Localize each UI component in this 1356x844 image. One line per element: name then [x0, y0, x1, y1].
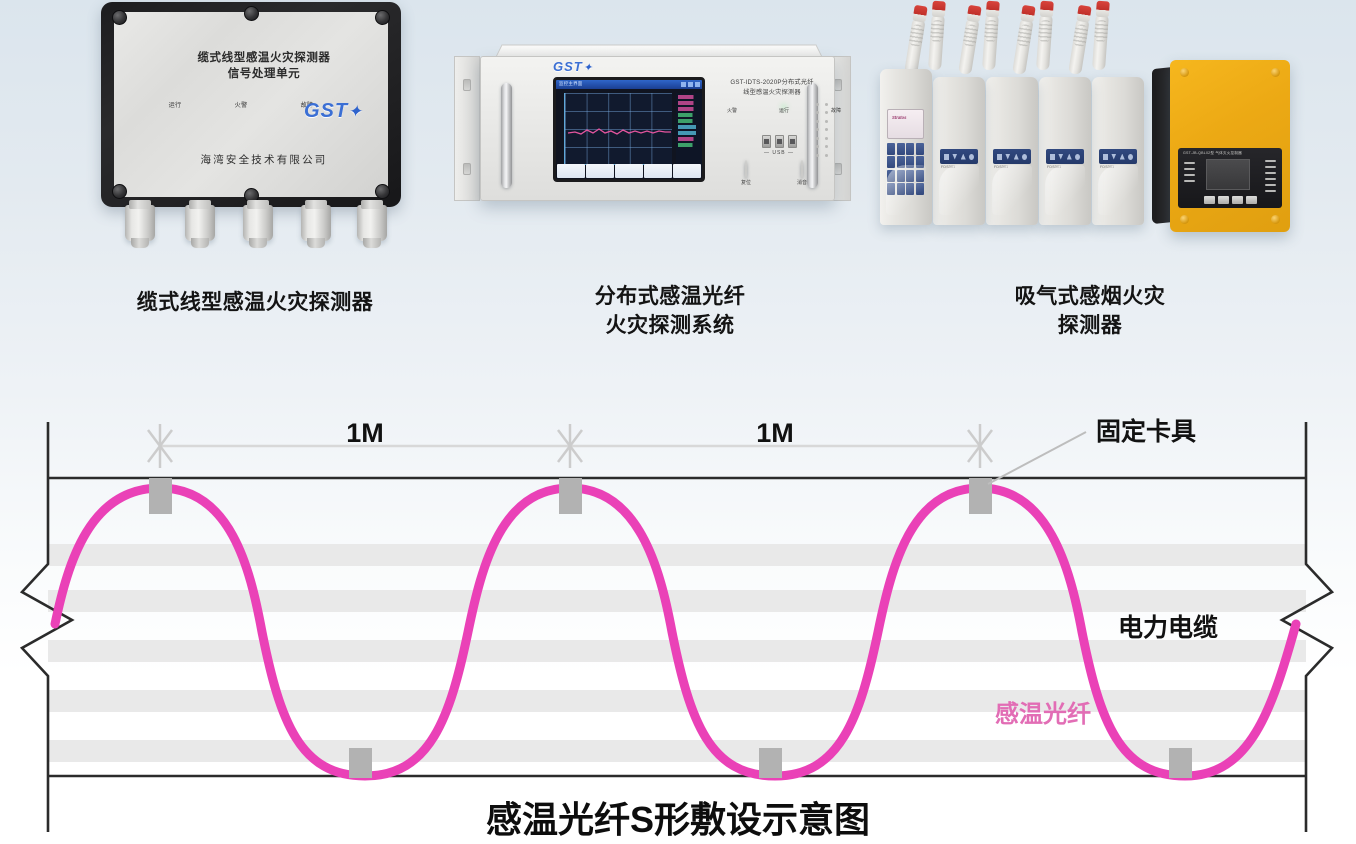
dts-model-line2: 线型感温火灾探测器	[711, 88, 833, 98]
dts-led-run-label: 运行	[771, 107, 797, 114]
caption-aspirating-detector: 吸气式感烟火灾 探测器	[930, 282, 1250, 340]
clamp-block	[149, 478, 172, 514]
clamp-leader-line	[988, 432, 1086, 484]
dts-knob-row: 复位 消音	[733, 161, 815, 186]
screw-icon	[1180, 68, 1189, 77]
gst-brand-logo: GST✦	[304, 100, 364, 123]
rack-slot-icon	[834, 79, 842, 91]
sampling-pipe	[928, 14, 945, 71]
aspirating-display[interactable]: Stratos	[887, 109, 924, 139]
detector-led-run-label: 运行	[158, 100, 192, 109]
detector-led-fire: 火警	[224, 100, 258, 109]
controller-panel-title: GST-JB-QBL02型 气体灭火控制器	[1183, 151, 1242, 156]
detector-led-group: 运行 火警 故障	[158, 100, 324, 109]
aspirating-unit: FDS301	[1092, 77, 1144, 225]
label-sensing-fiber: 感温光纤	[995, 700, 1091, 728]
detector-led-run: 运行	[158, 100, 192, 109]
flame-icon: ✦	[347, 102, 367, 122]
screw-icon	[1180, 215, 1189, 224]
gst-logo-text: GST	[553, 59, 583, 74]
dts-knob-reset[interactable]: 复位	[733, 161, 759, 186]
screw-icon	[244, 6, 259, 21]
detector-panel-title-line2: 信号处理单元	[114, 66, 414, 82]
caption-cable-detector: 缆式线型感温火灾探测器	[55, 288, 455, 317]
screen-tab[interactable]	[557, 164, 585, 178]
aspirating-keypad[interactable]	[887, 143, 924, 195]
controller-button[interactable]	[1232, 196, 1243, 204]
aspirating-indicator-panel	[993, 149, 1031, 164]
aspirating-unit-master: Stratos	[880, 69, 932, 225]
dts-knob-silence-label: 消音	[789, 179, 815, 186]
cable-gland	[243, 205, 273, 241]
window-controls[interactable]	[681, 82, 700, 87]
cable-gland	[301, 205, 331, 241]
gst-logo-text: GST	[304, 100, 348, 122]
product-cable-linear-heat-detector: 缆式线型感温火灾探测器 信号处理单元 运行 火警 故障	[95, 0, 415, 250]
screen-tab[interactable]	[615, 164, 643, 178]
aspirating-unit-code: FDS301	[1047, 165, 1061, 169]
clamp-block	[1169, 748, 1192, 778]
controller-led-column-left	[1184, 162, 1195, 186]
detector-panel-title: 缆式线型感温火灾探测器 信号处理单元	[114, 50, 414, 82]
aspirating-unit-code: FDS301	[941, 165, 955, 169]
rack-chassis: GST✦ 监控主界面	[480, 56, 835, 201]
aspirating-indicator-panel	[1046, 149, 1084, 164]
dimension-line-group: 1M 1M	[148, 418, 992, 468]
diagram-title: 感温光纤S形敷设示意图	[486, 799, 870, 840]
rack-handle-left[interactable]	[501, 83, 512, 188]
sampling-pipe	[1068, 18, 1090, 75]
detector-front-panel: 缆式线型感温火灾探测器 信号处理单元 运行 火警 故障	[114, 12, 388, 197]
controller-button[interactable]	[1204, 196, 1215, 204]
dts-led-fire: 火警	[719, 107, 745, 114]
product-aspirating-smoke-detector: Stratos FDS301 FDS301 FDS301 FDS301	[880, 10, 1150, 225]
minimize-icon	[681, 82, 686, 87]
screen-tab[interactable]	[644, 164, 672, 178]
ventilation-grid	[816, 103, 830, 159]
dts-led-fire-label: 火警	[719, 107, 745, 114]
sampling-pipe	[982, 14, 999, 71]
caption-line: 吸气式感烟火灾	[930, 282, 1250, 311]
sampling-pipe	[1012, 18, 1034, 75]
sampling-pipe	[958, 18, 980, 75]
rack-mount-ear-left	[454, 56, 480, 201]
cable-gland	[125, 205, 155, 241]
maximize-icon	[688, 82, 693, 87]
screw-icon	[112, 10, 127, 25]
sampling-pipe	[904, 18, 926, 75]
detector-panel-title-line1: 缆式线型感温火灾探测器	[114, 50, 414, 66]
detector-enclosure: 缆式线型感温火灾探测器 信号处理单元 运行 火警 故障	[101, 2, 401, 207]
screw-icon	[375, 184, 390, 199]
dts-knob-reset-label: 复位	[733, 179, 759, 186]
cable-gland	[357, 205, 387, 241]
clamp-block	[349, 748, 372, 778]
controller-button-row[interactable]	[1204, 196, 1257, 204]
usb-port-icon	[775, 135, 784, 148]
gst-brand-logo: GST✦	[553, 59, 594, 74]
aspirating-unit: FDS301	[986, 77, 1038, 225]
usb-port-icon	[762, 135, 771, 148]
usb-ports[interactable]	[749, 135, 809, 148]
rack-slot-icon	[834, 163, 842, 175]
detector-company-name: 海湾安全技术有限公司	[114, 152, 414, 167]
clamp-block	[759, 748, 782, 778]
dts-model-line1: GST-IDTS-2020P分布式光纤	[711, 78, 833, 88]
sampling-pipe	[1036, 14, 1053, 71]
usb-label: — USB —	[749, 150, 809, 156]
controller-lcd[interactable]	[1206, 159, 1250, 190]
dts-model-text: GST-IDTS-2020P分布式光纤 线型感温火灾探测器	[711, 78, 833, 98]
controller-led-column-right	[1265, 160, 1276, 196]
screw-icon	[375, 10, 390, 25]
usb-port-icon	[788, 135, 797, 148]
temperature-curve	[565, 93, 673, 165]
product-gas-alarm-controller: GST-JB-QBL02型 气体灭火控制器	[1152, 60, 1307, 235]
dts-knob-silence[interactable]: 消音	[789, 161, 815, 186]
product-distributed-fiber-dts: GST✦ 监控主界面	[470, 40, 860, 240]
screen-titlebar: 监控主界面	[556, 80, 702, 89]
dts-led-run: 运行	[771, 107, 797, 114]
screen-side-panel	[676, 93, 705, 171]
aspirating-indicator-panel	[1099, 149, 1137, 164]
screen-tab-bar[interactable]	[556, 163, 702, 179]
dts-touchscreen[interactable]: 监控主界面	[553, 77, 705, 182]
aspirating-unit-code: FDS301	[994, 165, 1008, 169]
caption-fiber-system: 分布式感温光纤 火灾探测系统	[510, 282, 830, 340]
screen-tab[interactable]	[586, 164, 614, 178]
product-showcase-band: 缆式线型感温火灾探测器 信号处理单元 运行 火警 故障	[0, 0, 1356, 390]
controller-control-panel: GST-JB-QBL02型 气体灭火控制器	[1178, 148, 1282, 208]
screen-title-text: 监控主界面	[559, 81, 583, 87]
caption-line: 火灾探测系统	[510, 311, 830, 340]
dimension-label-1: 1M	[346, 418, 384, 448]
screen-tab[interactable]	[673, 164, 701, 178]
clamp-block	[559, 478, 582, 514]
detector-led-fire-label: 火警	[224, 100, 258, 109]
controller-button[interactable]	[1218, 196, 1229, 204]
fiber-layout-diagram: 1M 1M 固定卡具 电力电缆 感温光纤 感温	[0, 392, 1356, 844]
knob-icon[interactable]	[801, 160, 803, 179]
aspirating-unit-code: FDS301	[1100, 165, 1114, 169]
cable-gland	[185, 205, 215, 241]
aspirating-lcd-brand: Stratos	[892, 115, 906, 120]
sensing-fiber-path	[55, 488, 1296, 776]
caption-line: 分布式感温光纤	[510, 282, 830, 311]
controller-button[interactable]	[1246, 196, 1257, 204]
usb-port-group[interactable]: — USB —	[749, 135, 809, 156]
aspirating-unit: FDS301	[1039, 77, 1091, 225]
aspirating-unit: FDS301	[933, 77, 985, 225]
dimension-label-2: 1M	[756, 418, 794, 448]
knob-icon[interactable]	[745, 160, 747, 179]
rack-slot-icon	[463, 163, 471, 175]
screw-icon	[112, 184, 127, 199]
label-power-cable: 电力电缆	[1118, 613, 1218, 642]
caption-line: 探测器	[930, 311, 1250, 340]
temperature-plot	[564, 93, 672, 165]
aspirating-indicator-panel	[940, 149, 978, 164]
close-icon	[695, 82, 700, 87]
flame-icon: ✦	[582, 61, 595, 74]
screw-icon	[1271, 68, 1280, 77]
label-fixing-clamp: 固定卡具	[1096, 417, 1196, 446]
sampling-pipe	[1092, 14, 1109, 71]
controller-front-face: GST-JB-QBL02型 气体灭火控制器	[1170, 60, 1290, 232]
screw-icon	[1271, 215, 1280, 224]
rack-slot-icon	[463, 79, 471, 91]
caption-line: 缆式线型感温火灾探测器	[55, 288, 455, 317]
